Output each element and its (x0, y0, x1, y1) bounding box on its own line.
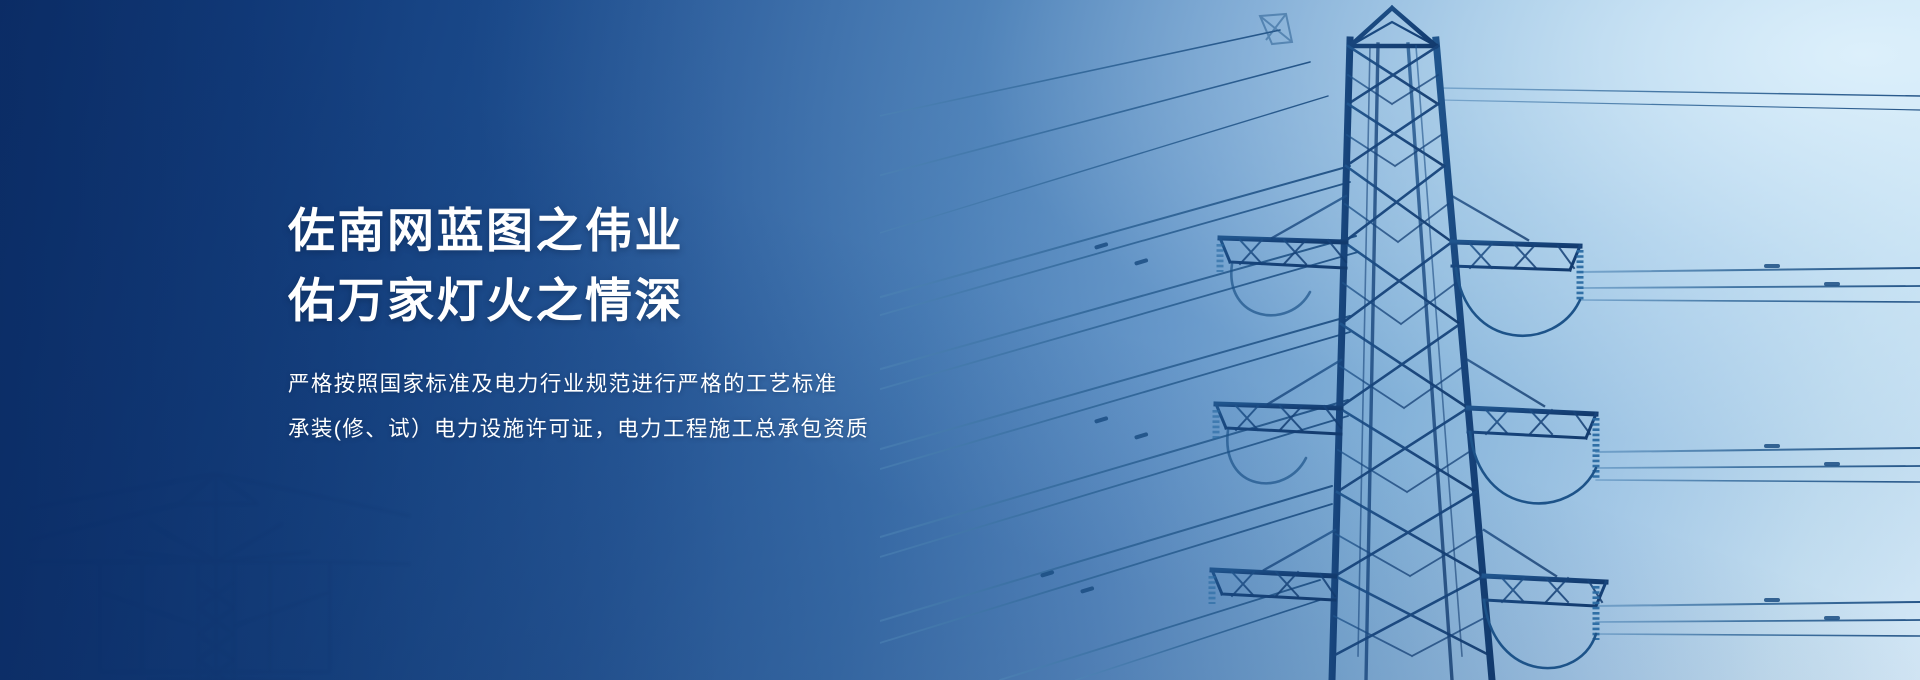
hero-banner: 佐南网蓝图之伟业 佑万家灯火之情深 严格按照国家标准及电力行业规范进行严格的工艺… (0, 0, 1920, 680)
subtitle-group: 严格按照国家标准及电力行业规范进行严格的工艺标准 承装(修、试）电力设施许可证，… (288, 362, 1188, 452)
hero-copy: 佐南网蓝图之伟业 佑万家灯火之情深 严格按照国家标准及电力行业规范进行严格的工艺… (288, 196, 1188, 452)
headline-line-1: 佐南网蓝图之伟业 (288, 196, 1188, 266)
subtitle-line-2: 承装(修、试）电力设施许可证，电力工程施工总承包资质 (288, 407, 1188, 452)
headline-line-2: 佑万家灯火之情深 (288, 266, 1188, 336)
subtitle-line-1: 严格按照国家标准及电力行业规范进行严格的工艺标准 (288, 362, 1188, 407)
ghost-transmission-tower-icon (30, 412, 410, 680)
